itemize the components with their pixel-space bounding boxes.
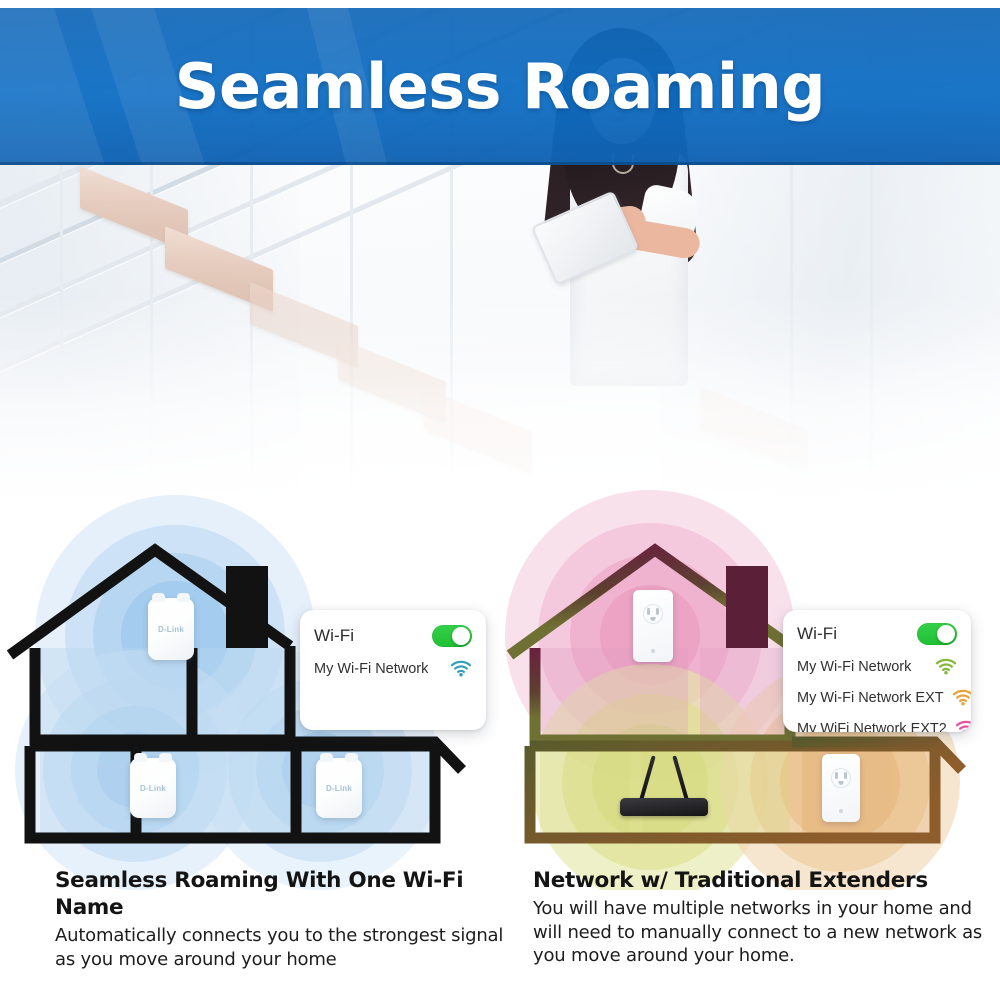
network-row[interactable]: My Wi-Fi Network bbox=[783, 651, 971, 682]
chimney bbox=[726, 566, 768, 648]
network-name: My Wi-Fi Network EXT bbox=[797, 690, 944, 706]
network-row[interactable]: My Wi-Fi Network EXT bbox=[783, 682, 971, 713]
caption-right-heading: Network w/ Traditional Extenders bbox=[533, 868, 1000, 895]
outlet-pin-ground bbox=[651, 617, 656, 621]
network-name: My Wi-Fi Network bbox=[797, 659, 911, 675]
wifi-signal-icon bbox=[952, 689, 971, 706]
caption-left: Seamless Roaming With One Wi-Fi Name Aut… bbox=[55, 868, 525, 971]
diagram-right: Wi-Fi My Wi-Fi Network bbox=[500, 470, 1000, 890]
page-root: Seamless Roaming bbox=[0, 0, 1000, 1000]
dlink-device-ground-right: D-Link bbox=[316, 758, 362, 818]
dlink-device-ground-left: D-Link bbox=[130, 758, 176, 818]
wall-plug-extender-ground bbox=[822, 754, 860, 822]
hero-banner: Seamless Roaming bbox=[0, 8, 1000, 165]
caption-left-heading: Seamless Roaming With One Wi-Fi Name bbox=[55, 868, 525, 922]
outlet-pin-left bbox=[835, 772, 838, 779]
network-name: My Wi-Fi Network bbox=[314, 661, 428, 677]
caption-right: Network w/ Traditional Extenders You wil… bbox=[533, 868, 1000, 968]
toggle-knob bbox=[937, 625, 955, 643]
outlet-face bbox=[831, 768, 851, 788]
caption-right-body: You will have multiple networks in your … bbox=[533, 897, 1000, 968]
router-body bbox=[620, 798, 708, 816]
diagram-left: D-Link D-Link D-Link Wi-Fi My Wi-Fi Netw… bbox=[0, 470, 500, 890]
status-led bbox=[651, 649, 655, 653]
outlet-face bbox=[643, 604, 663, 624]
network-name: My WiFi Network EXT2 bbox=[797, 721, 947, 733]
chimney bbox=[226, 566, 268, 648]
wifi-toggle[interactable] bbox=[917, 623, 957, 645]
outlet-pin-right bbox=[844, 772, 847, 779]
network-row[interactable]: My Wi-Fi Network bbox=[300, 653, 486, 684]
wifi-card-right[interactable]: Wi-Fi My Wi-Fi Network bbox=[783, 610, 971, 732]
outlet-pin-right bbox=[656, 608, 659, 615]
wifi-toggle[interactable] bbox=[432, 625, 472, 647]
toggle-knob bbox=[452, 627, 470, 645]
wifi-title-row: Wi-Fi bbox=[300, 619, 486, 653]
wifi-signal-icon bbox=[935, 658, 957, 675]
banner-bottom-rule bbox=[0, 162, 1000, 165]
wifi-title-row: Wi-Fi bbox=[783, 617, 971, 651]
outlet-pin-left bbox=[647, 608, 650, 615]
dlink-device-attic: D-Link bbox=[148, 598, 194, 660]
dlink-label: D-Link bbox=[158, 625, 184, 634]
dlink-label: D-Link bbox=[326, 784, 352, 793]
network-row[interactable]: My WiFi Network EXT2 bbox=[783, 713, 971, 732]
wifi-signal-icon bbox=[450, 660, 472, 677]
wifi-signal-icon bbox=[955, 720, 971, 732]
page-title: Seamless Roaming bbox=[0, 8, 1000, 165]
caption-left-body: Automatically connects you to the strong… bbox=[55, 924, 525, 972]
wifi-label: Wi-Fi bbox=[797, 624, 837, 644]
wireless-router bbox=[620, 752, 708, 816]
captions: Seamless Roaming With One Wi-Fi Name Aut… bbox=[0, 868, 1000, 1000]
outlet-pin-ground bbox=[839, 781, 844, 785]
wifi-card-left[interactable]: Wi-Fi My Wi-Fi Network bbox=[300, 610, 486, 730]
comparison-diagram: D-Link D-Link D-Link Wi-Fi My Wi-Fi Netw… bbox=[0, 470, 1000, 890]
dlink-label: D-Link bbox=[140, 784, 166, 793]
status-led bbox=[839, 809, 843, 813]
wifi-label: Wi-Fi bbox=[314, 626, 354, 646]
wall-plug-extender-attic bbox=[633, 590, 673, 662]
